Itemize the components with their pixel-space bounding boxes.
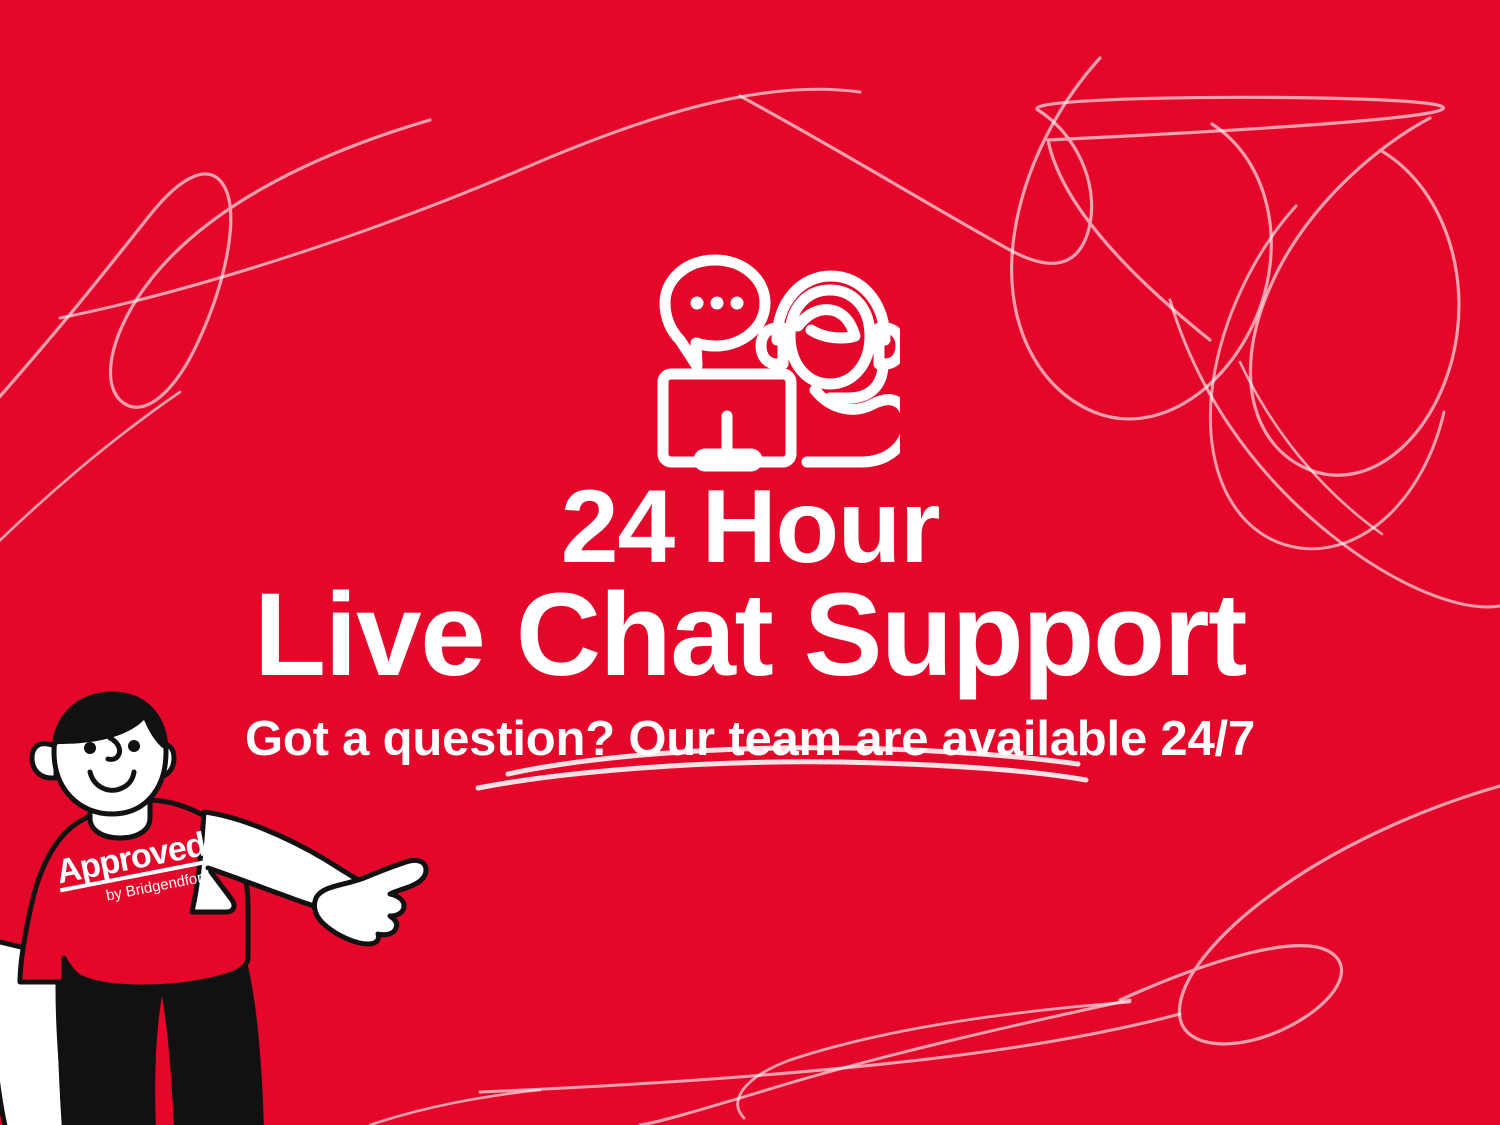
ellipsis-dot-1: [691, 297, 704, 310]
promo-banner: 24 Hour Live Chat Support Got a question…: [0, 0, 1500, 1125]
pointing-person-illustration: Approved by Bridgendford: [0, 690, 436, 1125]
squiggle-bottom-center-a: [738, 1002, 1130, 1118]
headline-line-1: 24 Hour: [24, 478, 1476, 577]
squiggle-top-left: [0, 120, 430, 430]
squiggle-top-right-loop-a: [1250, 118, 1458, 475]
squiggle-bottom-right-loop: [1120, 786, 1500, 1044]
live-chat-support-icon: [655, 248, 900, 476]
speech-bubble-icon: [665, 260, 765, 366]
squiggle-bottom-right-tail: [640, 1000, 1130, 1125]
ellipsis-dot-3: [731, 297, 744, 310]
character-eye-left: [84, 742, 96, 754]
headline-line-2: Live Chat Support: [24, 579, 1476, 692]
squiggle-top-right-loop-c: [1012, 58, 1272, 419]
monitor-icon: [663, 374, 791, 466]
squiggle-bottom-center-line: [480, 1014, 1180, 1092]
character-eye-right: [128, 740, 140, 752]
character-head: [54, 694, 166, 814]
ellipsis-dot-2: [711, 297, 724, 310]
